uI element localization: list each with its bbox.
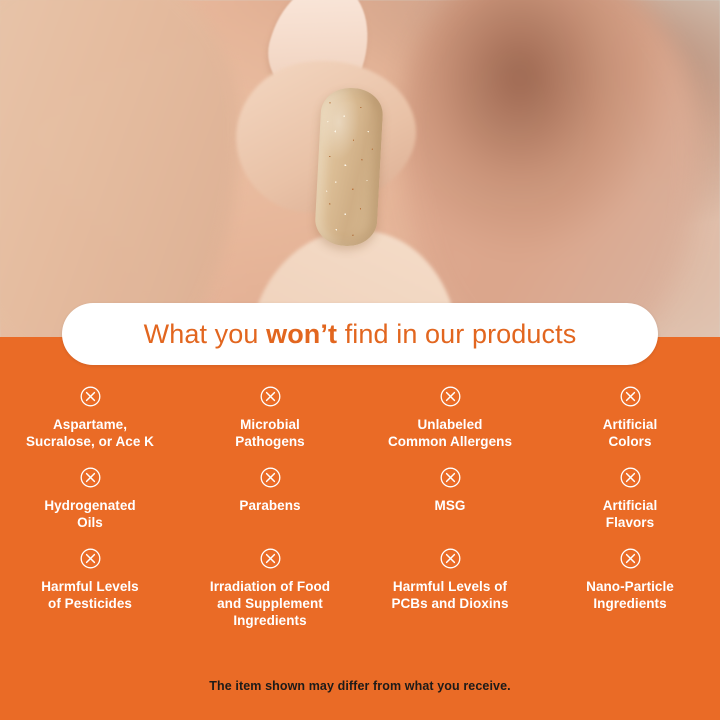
circle-x-icon — [620, 548, 641, 569]
claim-label-line: Irradiation of Food — [210, 579, 330, 594]
claim-label-line: Hydrogenated — [44, 498, 135, 513]
tablet-speckle-texture — [314, 86, 384, 247]
claim-item: Aspartame,Sucralose, or Ace K — [0, 386, 180, 450]
claim-label-line: Parabens — [239, 498, 300, 513]
hero-photo — [0, 0, 720, 338]
claim-label-line: PCBs and Dioxins — [391, 596, 508, 611]
claim-label-line: and Supplement — [217, 596, 323, 611]
claim-label-line: Ingredients — [233, 613, 306, 628]
claim-label-line: of Pesticides — [48, 596, 132, 611]
claim-label-line: MSG — [435, 498, 466, 513]
claim-label: Parabens — [239, 497, 300, 514]
claim-label: Nano-ParticleIngredients — [586, 578, 674, 612]
claim-item: MicrobialPathogens — [180, 386, 360, 450]
disclaimer-text: The item shown may differ from what you … — [209, 679, 510, 693]
claim-label-line: Oils — [77, 515, 103, 530]
claim-label-line: Harmful Levels of — [393, 579, 507, 594]
claim-label: UnlabeledCommon Allergens — [388, 416, 512, 450]
claim-label-line: Ingredients — [593, 596, 666, 611]
claim-label: Harmful Levelsof Pesticides — [41, 578, 139, 612]
claim-label-line: Flavors — [606, 515, 654, 530]
circle-x-icon — [440, 467, 461, 488]
claim-label: Aspartame,Sucralose, or Ace K — [26, 416, 154, 450]
claim-label-line: Common Allergens — [388, 434, 512, 449]
title-emphasis: won’t — [266, 319, 337, 349]
claim-label: ArtificialColors — [603, 416, 658, 450]
claim-label-line: Aspartame, — [53, 417, 127, 432]
product-claims-infographic: What you won’t find in our products Aspa… — [0, 0, 720, 720]
circle-x-icon — [440, 548, 461, 569]
claim-item: MSG — [360, 467, 540, 531]
claim-item: Harmful Levels ofPCBs and Dioxins — [360, 548, 540, 629]
claim-label-line: Unlabeled — [418, 417, 483, 432]
claim-item: Parabens — [180, 467, 360, 531]
claim-item: Nano-ParticleIngredients — [540, 548, 720, 629]
circle-x-icon — [80, 548, 101, 569]
claim-label-line: Artificial — [603, 498, 658, 513]
claim-label-line: Colors — [608, 434, 651, 449]
claim-label-line: Nano-Particle — [586, 579, 674, 594]
page-title: What you won’t find in our products — [144, 319, 577, 350]
claim-item: ArtificialFlavors — [540, 467, 720, 531]
circle-x-icon — [260, 548, 281, 569]
claim-label-line: Sucralose, or Ace K — [26, 434, 154, 449]
claim-label: Irradiation of Foodand SupplementIngredi… — [210, 578, 330, 629]
claim-label: ArtificialFlavors — [603, 497, 658, 531]
claim-item: ArtificialColors — [540, 386, 720, 450]
blurred-background-arm — [400, 0, 700, 338]
circle-x-icon — [260, 386, 281, 407]
circle-x-icon — [80, 386, 101, 407]
claim-label: Harmful Levels ofPCBs and Dioxins — [391, 578, 508, 612]
title-prefix: What you — [144, 319, 266, 349]
claims-grid: Aspartame,Sucralose, or Ace KMicrobialPa… — [0, 386, 720, 629]
claim-label-line: Harmful Levels — [41, 579, 139, 594]
title-suffix: find in our products — [337, 319, 576, 349]
footer: The item shown may differ from what you … — [0, 677, 720, 695]
claim-label-line: Artificial — [603, 417, 658, 432]
title-pill: What you won’t find in our products — [62, 303, 658, 365]
circle-x-icon — [80, 467, 101, 488]
claim-label: MicrobialPathogens — [235, 416, 304, 450]
claim-label-line: Pathogens — [235, 434, 304, 449]
circle-x-icon — [440, 386, 461, 407]
claim-label: MSG — [435, 497, 466, 514]
circle-x-icon — [620, 467, 641, 488]
supplement-tablet — [314, 86, 384, 247]
claim-label-line: Microbial — [240, 417, 300, 432]
claim-item: UnlabeledCommon Allergens — [360, 386, 540, 450]
claim-item: HydrogenatedOils — [0, 467, 180, 531]
claim-item: Irradiation of Foodand SupplementIngredi… — [180, 548, 360, 629]
circle-x-icon — [620, 386, 641, 407]
claim-item: Harmful Levelsof Pesticides — [0, 548, 180, 629]
claim-label: HydrogenatedOils — [44, 497, 135, 531]
circle-x-icon — [260, 467, 281, 488]
